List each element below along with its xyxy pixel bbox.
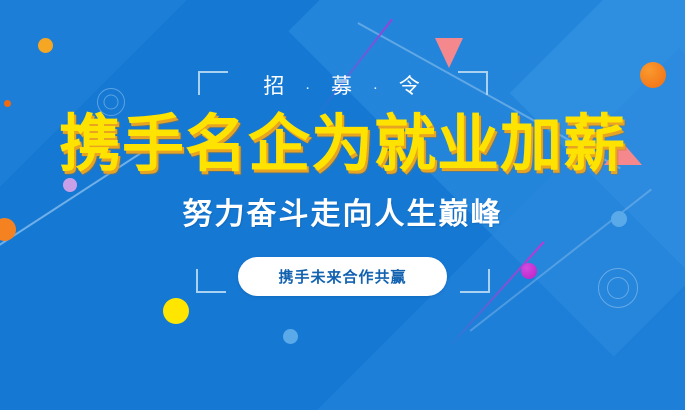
subtitle-text: 努力奋斗走向人生巅峰 — [183, 189, 503, 233]
eyebrow-char-1: 招 — [258, 75, 291, 98]
eyebrow-separator-2: · — [367, 79, 386, 96]
eyebrow-char-3: 令 — [394, 75, 427, 98]
eyebrow-text: 招 · 募 · 令 — [258, 70, 426, 100]
bracket-top-right-icon — [458, 71, 488, 95]
bracket-top-left-icon — [198, 71, 228, 95]
eyebrow-row: 招 · 募 · 令 — [178, 62, 508, 108]
bracket-bottom-left-icon — [196, 269, 226, 293]
banner-content: 招 · 募 · 令 携手名企为就业加薪 努力奋斗走向人生巅峰 携手未来合作共赢 — [0, 0, 685, 410]
cta-row: 携手未来合作共赢 — [178, 253, 508, 299]
headline-title: 携手名企为就业加薪 — [59, 112, 626, 177]
cta-button[interactable]: 携手未来合作共赢 — [238, 257, 446, 296]
eyebrow-char-2: 募 — [326, 75, 359, 98]
recruitment-banner: 招 · 募 · 令 携手名企为就业加薪 努力奋斗走向人生巅峰 携手未来合作共赢 — [0, 0, 685, 410]
bracket-bottom-right-icon — [460, 269, 490, 293]
eyebrow-separator-1: · — [299, 79, 318, 96]
